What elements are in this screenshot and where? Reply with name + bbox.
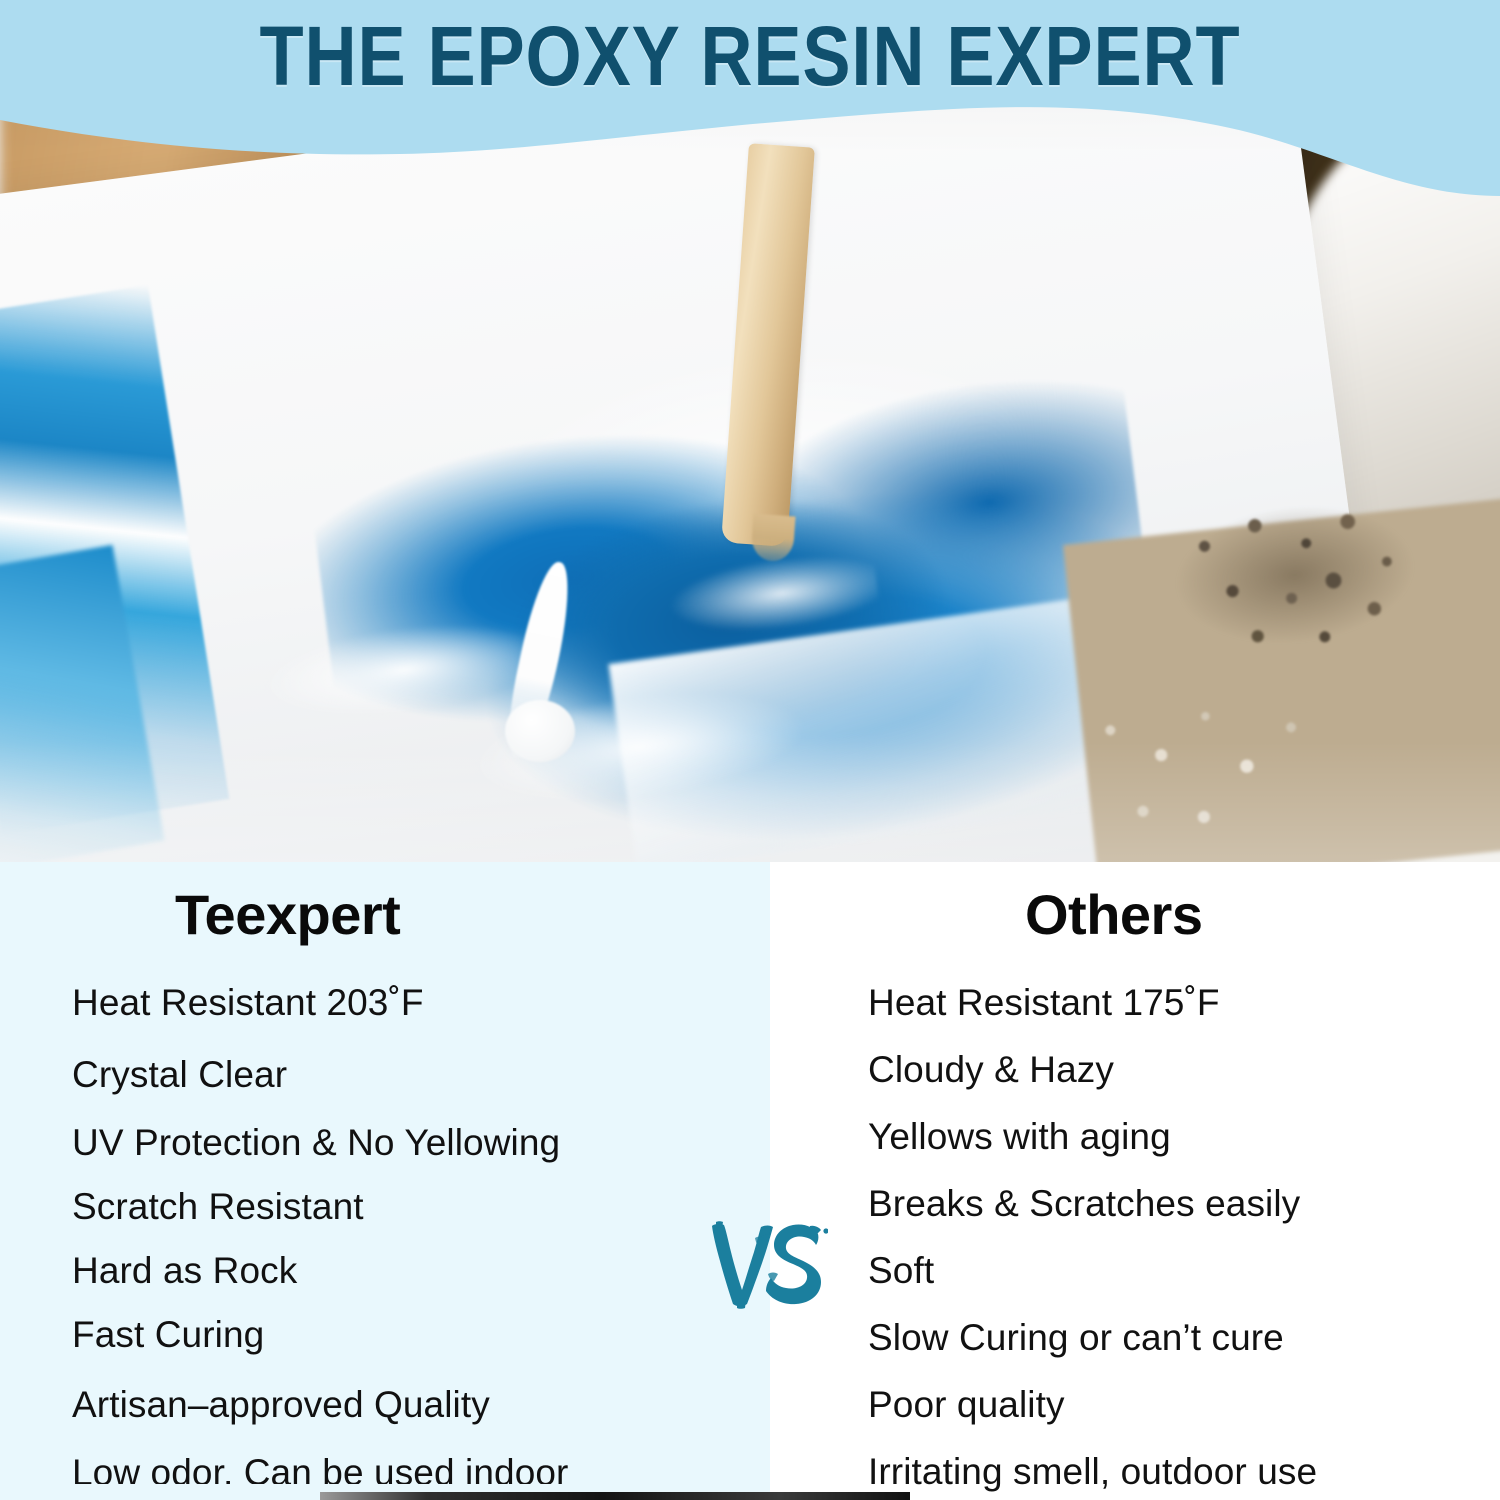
others-feature-list: Heat Resistant 175˚F Cloudy & Hazy Yello… (868, 982, 1488, 1500)
list-item: Breaks & Scratches easily (868, 1183, 1488, 1225)
list-item: Fast Curing (72, 1314, 732, 1356)
list-item: Hard as Rock (72, 1250, 732, 1292)
resin-art-photo (0, 0, 1500, 862)
bottom-edge-strip (320, 1492, 910, 1500)
resin-drip-bulb (505, 700, 575, 762)
others-list: Heat Resistant 175˚F Cloudy & Hazy Yello… (868, 982, 1488, 1493)
teexpert-list: Heat Resistant 203˚F Crystal Clear UV Pr… (72, 982, 732, 1494)
vs-separator-badge (700, 1216, 828, 1312)
pebble-cluster (1050, 645, 1369, 862)
list-item: Poor quality (868, 1384, 1488, 1426)
vs-brush-icon (700, 1216, 828, 1312)
list-item: Cloudy & Hazy (868, 1049, 1488, 1091)
product-comparison-infographic: THE EPOXY RESIN EXPERT Teexpert Others H… (0, 0, 1500, 1500)
list-item: Artisan–approved Quality (72, 1384, 732, 1426)
list-item: Irritating smell, outdoor use (868, 1451, 1488, 1493)
comparison-section: Teexpert Others Heat Resistant 203˚F Cry… (0, 862, 1500, 1500)
list-item: Slow Curing or can’t cure (868, 1317, 1488, 1359)
teexpert-feature-list: Heat Resistant 203˚F Crystal Clear UV Pr… (72, 982, 732, 1500)
list-item: Yellows with aging (868, 1116, 1488, 1158)
list-item: Heat Resistant 203˚F (72, 982, 732, 1024)
list-item: UV Protection & No Yellowing (72, 1122, 732, 1164)
list-item: Heat Resistant 175˚F (868, 982, 1488, 1024)
list-item: Crystal Clear (72, 1054, 732, 1096)
list-item: Scratch Resistant (72, 1186, 732, 1228)
list-item: Soft (868, 1250, 1488, 1292)
others-heading: Others (1025, 882, 1203, 947)
hero-photo-section (0, 0, 1500, 862)
teexpert-heading: Teexpert (175, 882, 400, 947)
